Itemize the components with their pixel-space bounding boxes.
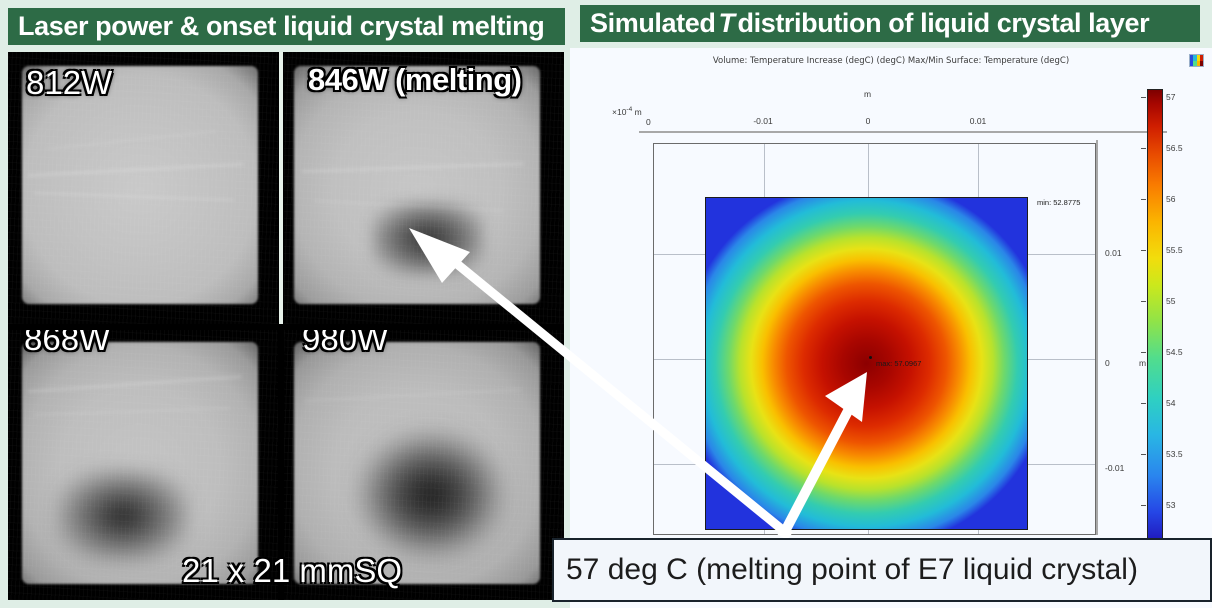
right-panel-title-pre: Simulated <box>590 8 715 39</box>
colorbar-tick: 54 <box>1166 398 1175 408</box>
colorbar-tick: 54.5 <box>1166 347 1183 357</box>
right-panel-title-post: distribution of liquid crystal layer <box>738 8 1150 39</box>
max-marker-dot <box>869 356 872 359</box>
top-axis-line <box>639 131 1167 133</box>
ir-image-montage: 812W 846W (melting) 868W 980W <box>8 52 564 600</box>
ir-panel-divider <box>279 52 283 324</box>
y-tick-label: 0.01 <box>1105 248 1122 258</box>
ir-label-812w: 812W <box>26 64 112 102</box>
left-panel-title: Laser power & onset liquid crystal melti… <box>8 8 565 45</box>
ir-panel-812w: 812W <box>8 52 278 324</box>
colorbar-tick: 53.5 <box>1166 449 1183 459</box>
right-axis-line <box>1096 140 1098 535</box>
y-tick-label: -0.01 <box>1105 463 1124 473</box>
right-panel-title: Simulated T distribution of liquid cryst… <box>580 5 1200 42</box>
comsol-plot-title: Volume: Temperature Increase (degC) (deg… <box>570 56 1212 66</box>
colorbar-tick: 55.5 <box>1166 245 1183 255</box>
colorbar-tick: 56 <box>1166 194 1175 204</box>
top-axis-exponent-zero: 0 <box>646 117 651 127</box>
temperature-heatmap <box>705 197 1028 530</box>
ir-panel-846w: 846W (melting) <box>284 52 564 324</box>
color-legend-icon[interactable] <box>1189 54 1204 67</box>
colorbar-tick: 57 <box>1166 92 1175 102</box>
min-annotation: min: 52.8775 <box>1037 198 1080 207</box>
ir-label-868w: 868W <box>24 330 110 358</box>
colorbar-tick: 56.5 <box>1166 143 1183 153</box>
right-panel-title-symbol: T <box>715 8 737 39</box>
temperature-colorbar <box>1147 89 1163 545</box>
right-axis-unit: m <box>1139 358 1146 368</box>
top-axis-exponent: ×10-4 m <box>612 106 642 117</box>
caption-box: 57 deg C (melting point of E7 liquid cry… <box>552 538 1212 602</box>
caption-text: 57 deg C (melting point of E7 liquid cry… <box>566 553 1138 587</box>
x-tick-label: 0 <box>866 116 871 126</box>
ir-label-846w: 846W (melting) <box>308 62 521 98</box>
top-axis-unit: m <box>864 89 871 99</box>
x-tick-label: -0.01 <box>753 116 772 126</box>
colorbar-tick: 55 <box>1166 296 1175 306</box>
left-panel-title-text: Laser power & onset liquid crystal melti… <box>18 11 544 42</box>
slide-root: Laser power & onset liquid crystal melti… <box>0 0 1212 608</box>
max-annotation: max: 57.0967 <box>876 359 921 368</box>
x-tick-label: 0.01 <box>970 116 987 126</box>
colorbar-tick: 53 <box>1166 500 1175 510</box>
y-tick-label: 0 <box>1105 358 1110 368</box>
ir-label-980w: 980W <box>302 330 388 358</box>
ir-scale-label: 21 x 21 mmSQ <box>182 552 402 590</box>
